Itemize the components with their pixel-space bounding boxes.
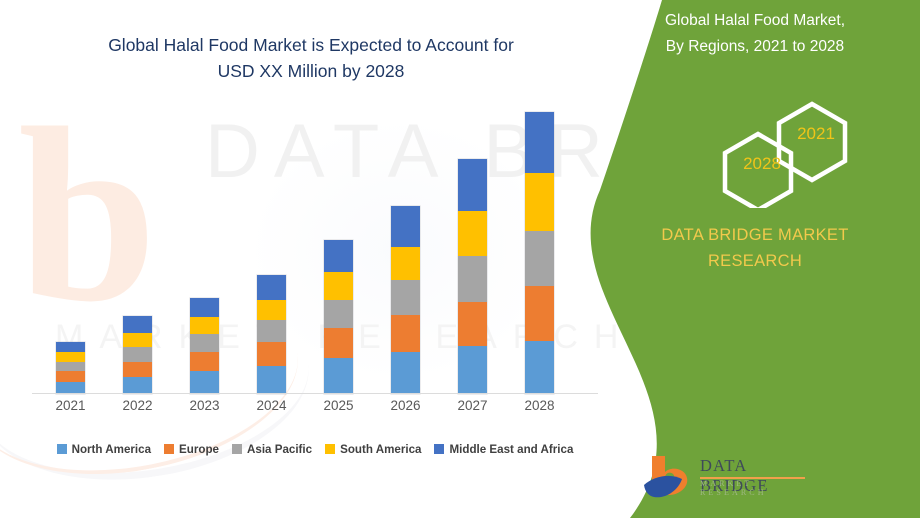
bar-segment — [257, 275, 286, 300]
bar-2025[interactable] — [324, 240, 353, 394]
chart-title: Global Halal Food Market is Expected to … — [46, 32, 576, 84]
x-axis-line — [32, 393, 598, 394]
x-axis-label-2028: 2028 — [510, 398, 570, 413]
logo-tagline: MARKET RESEARCH — [700, 479, 808, 497]
x-axis-label-2022: 2022 — [108, 398, 168, 413]
legend-swatch-icon — [164, 444, 174, 454]
company-logo: DATA BRIDGE MARKET RESEARCH — [638, 452, 808, 504]
hexagon-label-2028: 2028 — [726, 143, 798, 185]
bar-2028[interactable] — [525, 112, 554, 394]
bar-segment — [56, 371, 85, 382]
bar-segment — [324, 272, 353, 300]
legend-item[interactable]: Europe — [164, 443, 219, 456]
bar-segment — [190, 352, 219, 372]
bar-segment — [458, 302, 487, 346]
bar-segment — [458, 159, 487, 211]
bar-segment — [190, 317, 219, 334]
brand-line-1: DATA BRIDGE MARKET — [620, 222, 890, 248]
bar-segment — [391, 206, 420, 247]
bar-segment — [190, 371, 219, 394]
bar-segment — [56, 352, 85, 362]
bar-segment — [391, 315, 420, 352]
x-axis-label-2023: 2023 — [175, 398, 235, 413]
bar-segment — [525, 231, 554, 285]
bar-2026[interactable] — [391, 206, 420, 395]
bar-segment — [190, 334, 219, 351]
bar-group — [32, 96, 598, 394]
bar-segment — [56, 342, 85, 352]
bar-segment — [257, 342, 286, 366]
bar-segment — [257, 320, 286, 342]
bar-segment — [123, 333, 152, 347]
chart-plot-area — [32, 96, 598, 394]
legend-swatch-icon — [57, 444, 67, 454]
bar-segment — [458, 346, 487, 394]
legend-item[interactable]: Asia Pacific — [232, 443, 312, 456]
bar-segment — [525, 286, 554, 341]
bar-segment — [391, 352, 420, 394]
legend-item[interactable]: Middle East and Africa — [434, 443, 573, 456]
legend-label: North America — [72, 443, 151, 456]
panel-title-line-1: Global Halal Food Market, — [624, 8, 886, 34]
legend-swatch-icon — [232, 444, 242, 454]
x-axis-label-2026: 2026 — [376, 398, 436, 413]
legend-label: Asia Pacific — [247, 443, 312, 456]
panel-title-line-2: By Regions, 2021 to 2028 — [624, 34, 886, 60]
infographic-slide: b DATA BRIDGE MARKET RESEARCH Global Hal… — [0, 0, 920, 518]
bar-segment — [123, 362, 152, 377]
bar-segment — [324, 240, 353, 271]
x-axis-label-2024: 2024 — [242, 398, 302, 413]
bar-segment — [324, 328, 353, 358]
bar-segment — [391, 280, 420, 315]
bar-segment — [525, 173, 554, 232]
bar-segment — [56, 362, 85, 372]
bar-segment — [257, 366, 286, 394]
brand-line-2: RESEARCH — [620, 248, 890, 274]
chart-legend: North AmericaEuropeAsia PacificSouth Ame… — [32, 438, 598, 460]
bar-2021[interactable] — [56, 342, 85, 394]
bar-segment — [324, 300, 353, 328]
x-axis-label-2027: 2027 — [443, 398, 503, 413]
legend-item[interactable]: North America — [57, 443, 151, 456]
bar-segment — [458, 256, 487, 302]
bar-segment — [123, 347, 152, 361]
chart-title-line-1: Global Halal Food Market is Expected to … — [46, 32, 576, 58]
bar-2023[interactable] — [190, 298, 219, 394]
bar-segment — [123, 377, 152, 394]
legend-swatch-icon — [325, 444, 335, 454]
bar-2027[interactable] — [458, 159, 487, 394]
logo-mark-icon — [638, 452, 696, 502]
bar-segment — [391, 247, 420, 281]
brand-panel: Global Halal Food Market, By Regions, 20… — [590, 0, 920, 518]
chart-title-line-2: USD XX Million by 2028 — [46, 58, 576, 84]
panel-title: Global Halal Food Market, By Regions, 20… — [624, 8, 886, 60]
brand-name: DATA BRIDGE MARKET RESEARCH — [620, 222, 890, 274]
legend-item[interactable]: South America — [325, 443, 421, 456]
legend-label: South America — [340, 443, 421, 456]
bar-segment — [324, 358, 353, 394]
bar-segment — [525, 112, 554, 173]
bar-segment — [525, 341, 554, 394]
bar-segment — [458, 211, 487, 257]
legend-label: Middle East and Africa — [449, 443, 573, 456]
bar-segment — [123, 316, 152, 333]
bar-segment — [190, 298, 219, 318]
legend-label: Europe — [179, 443, 219, 456]
bar-segment — [257, 300, 286, 321]
legend-swatch-icon — [434, 444, 444, 454]
bar-2024[interactable] — [257, 275, 286, 394]
x-axis-labels: 20212022202320242025202620272028 — [32, 398, 598, 422]
bar-2022[interactable] — [123, 316, 152, 394]
x-axis-label-2021: 2021 — [41, 398, 101, 413]
x-axis-label-2025: 2025 — [309, 398, 369, 413]
